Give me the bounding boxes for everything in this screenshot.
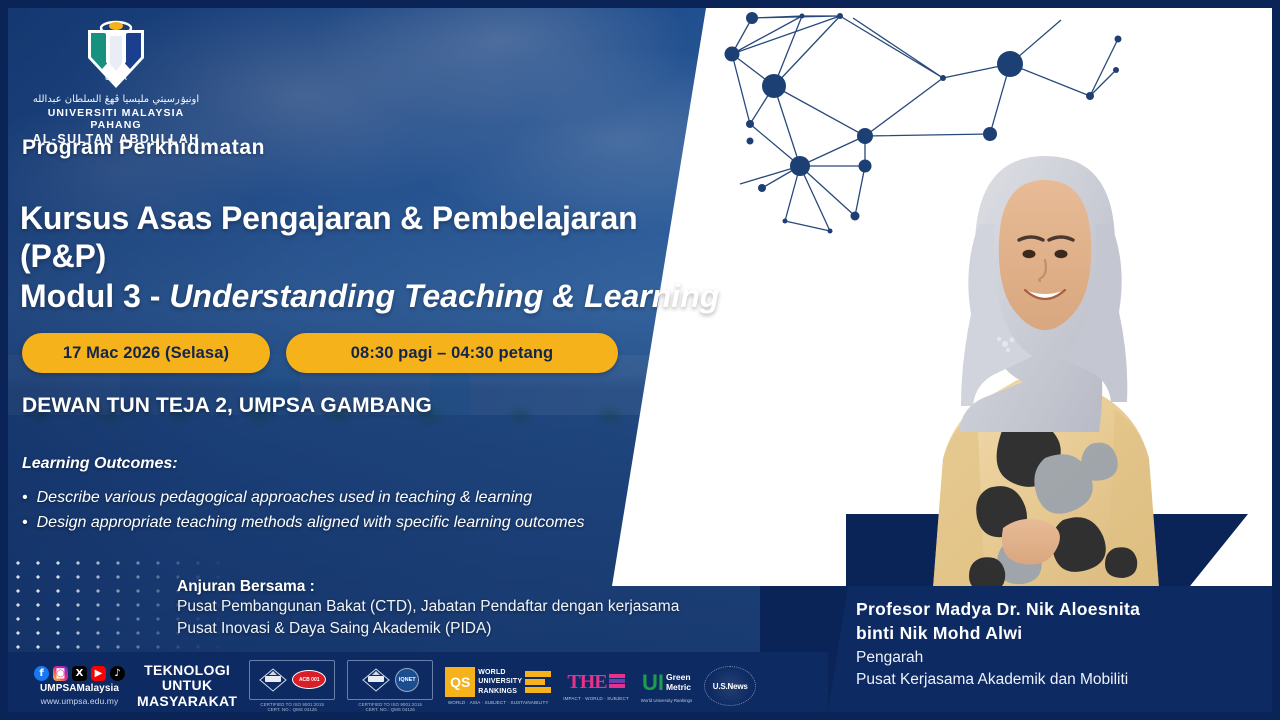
qs-text: WORLD UNIVERSITY RANKINGS — [478, 668, 522, 696]
website-url[interactable]: www.umpsa.edu.my — [41, 696, 119, 706]
greenmetric-text: Green Metric — [666, 673, 691, 692]
program-kicker: Program Perkhidmatan — [22, 136, 265, 160]
organiser-heading: Anjuran Bersama : — [177, 578, 737, 596]
organiser-line-1: Pusat Pembangunan Bakat (CTD), Jabatan P… — [177, 596, 737, 618]
tagline-line-1: TEKNOLOGI — [137, 663, 237, 678]
venue-text: DEWAN TUN TEJA 2, UMPSA GAMBANG — [22, 394, 432, 418]
frame-border-bottom — [0, 712, 1280, 720]
learning-outcomes-list: • Describe various pedagogical approache… — [22, 486, 682, 536]
event-detail-pills: 17 Mac 2026 (Selasa) 08:30 pagi – 04:30 … — [22, 333, 618, 373]
umpsa-shield-icon: UMPSA — [80, 14, 152, 92]
frame-border-right — [1272, 0, 1280, 720]
title-module-subtitle: Understanding Teaching & Learning — [169, 278, 719, 314]
x-twitter-icon[interactable]: X — [72, 666, 87, 681]
qs-text-line-3: RANKINGS — [478, 687, 522, 696]
tagline-line-3: MASYARAKAT — [137, 694, 237, 709]
the-rankings: THE IMPACT · WORLD · SUBJECT — [563, 671, 629, 701]
qs-caption: WORLD · ASIA · SUBJECT · SUSTAINABILITY — [448, 700, 549, 705]
greenmetric-caption: World University Rankings — [641, 698, 692, 703]
social-media-block: f ◙ X ▶ ♪ UMPSAMalaysia www.umpsa.edu.my — [34, 666, 125, 706]
event-title: Kursus Asas Pengajaran & Pembelajaran (P… — [20, 200, 720, 315]
speaker-name-line-2: binti Nik Mohd Alwi — [856, 622, 1280, 646]
svg-text:UMPSA: UMPSA — [105, 76, 127, 82]
qs-bars-icon — [525, 671, 551, 693]
title-module-prefix: Modul 3 - — [20, 278, 169, 314]
the-bars-icon — [609, 674, 625, 688]
organiser-block: Anjuran Bersama : Pusat Pembangunan Baka… — [177, 578, 737, 640]
sirim-iqnet-cert: IQNET CERTIFIED TO ISO 9001:2015 CERT. N… — [347, 660, 433, 713]
learning-outcome-item: • Design appropriate teaching methods al… — [22, 511, 682, 536]
social-handle: UMPSAMalaysia — [40, 683, 119, 694]
frame-border-left — [0, 0, 8, 720]
umpsa-logo: UMPSA اونيۏرسيتي مليسيا ڤهڠ السلطان عبدا… — [26, 14, 206, 146]
sirim-acb-cert: ACB 001 CERTIFIED TO ISO 9001:2015 CERT.… — [249, 660, 335, 713]
youtube-icon[interactable]: ▶ — [91, 666, 106, 681]
tagline-line-2: UNTUK — [137, 678, 237, 693]
qs-logo: QS WORLD UNIVERSITY RANKINGS — [445, 667, 551, 697]
logo-arabic-text: اونيۏرسيتي مليسيا ڤهڠ السلطان عبدالله — [26, 94, 206, 105]
qs-world-university-rankings: QS WORLD UNIVERSITY RANKINGS WORLD · ASI… — [445, 667, 551, 705]
poster-footer: f ◙ X ▶ ♪ UMPSAMalaysia www.umpsa.edu.my… — [0, 652, 828, 720]
time-pill: 08:30 pagi – 04:30 petang — [286, 333, 618, 373]
learning-outcome-item: • Describe various pedagogical approache… — [22, 486, 682, 511]
the-mark: THE — [567, 671, 606, 694]
speaker-department: Pusat Kerjasama Akademik dan Mobiliti — [856, 669, 1280, 691]
speaker-role: Pengarah — [856, 647, 1280, 669]
cert-badge-box: ACB 001 — [249, 660, 335, 700]
title-line-2: Modul 3 - Understanding Teaching & Learn… — [20, 278, 720, 316]
learning-outcome-text: Describe various pedagogical approaches … — [37, 486, 532, 511]
date-pill: 17 Mac 2026 (Selasa) — [22, 333, 270, 373]
facebook-icon[interactable]: f — [34, 666, 49, 681]
cert-caption: CERTIFIED TO ISO 9001:2015 CERT. NO.: QM… — [260, 702, 324, 713]
social-icon-row: f ◙ X ▶ ♪ — [34, 666, 125, 681]
sirim-diamond-icon — [258, 667, 288, 693]
iqnet-badge: IQNET — [395, 668, 419, 692]
qs-text-line-1: WORLD — [478, 668, 522, 677]
title-line-1: Kursus Asas Pengajaran & Pembelajaran (P… — [20, 200, 720, 276]
acb-badge: ACB 001 — [292, 670, 326, 689]
speaker-portrait-photo — [885, 128, 1205, 588]
ui-mark: UI — [642, 670, 664, 696]
cert-caption: CERTIFIED TO ISO 9001:2015 CERT. NO.: QM… — [358, 702, 422, 713]
qs-text-line-2: UNIVERSITY — [478, 677, 522, 686]
qs-mark: QS — [445, 667, 475, 697]
bullet-icon: • — [22, 511, 28, 536]
the-caption: IMPACT · WORLD · SUBJECT — [563, 696, 629, 701]
speaker-name-line-1: Profesor Madya Dr. Nik Aloesnita — [856, 598, 1280, 622]
organiser-line-2: Pusat Inovasi & Daya Saing Akademik (PID… — [177, 618, 737, 640]
bullet-icon: • — [22, 486, 28, 511]
greenmetric-line-2: Metric — [666, 683, 691, 692]
tiktok-icon[interactable]: ♪ — [110, 666, 125, 681]
ui-greenmetric-logo: UI Green Metric — [642, 670, 691, 696]
cert-badge-box: IQNET — [347, 660, 433, 700]
ui-greenmetric: UI Green Metric World University Ranking… — [641, 670, 692, 703]
event-poster: UMPSA اونيۏرسيتي مليسيا ڤهڠ السلطان عبدا… — [0, 0, 1280, 720]
instagram-icon[interactable]: ◙ — [53, 666, 68, 681]
learning-outcome-text: Design appropriate teaching methods alig… — [37, 511, 585, 536]
speaker-name-bar: Profesor Madya Dr. Nik Aloesnita binti N… — [828, 586, 1280, 712]
frame-border-top — [0, 0, 1280, 8]
sirim-diamond-icon — [361, 667, 391, 693]
the-logo-row: THE — [567, 671, 624, 694]
tagline-block: TEKNOLOGI UNTUK MASYARAKAT — [137, 663, 237, 708]
us-news-rankings: U.S.News — [704, 666, 756, 706]
logo-university-name: UNIVERSITI MALAYSIA PAHANG — [26, 107, 206, 131]
learning-outcomes-heading: Learning Outcomes: — [22, 455, 178, 473]
